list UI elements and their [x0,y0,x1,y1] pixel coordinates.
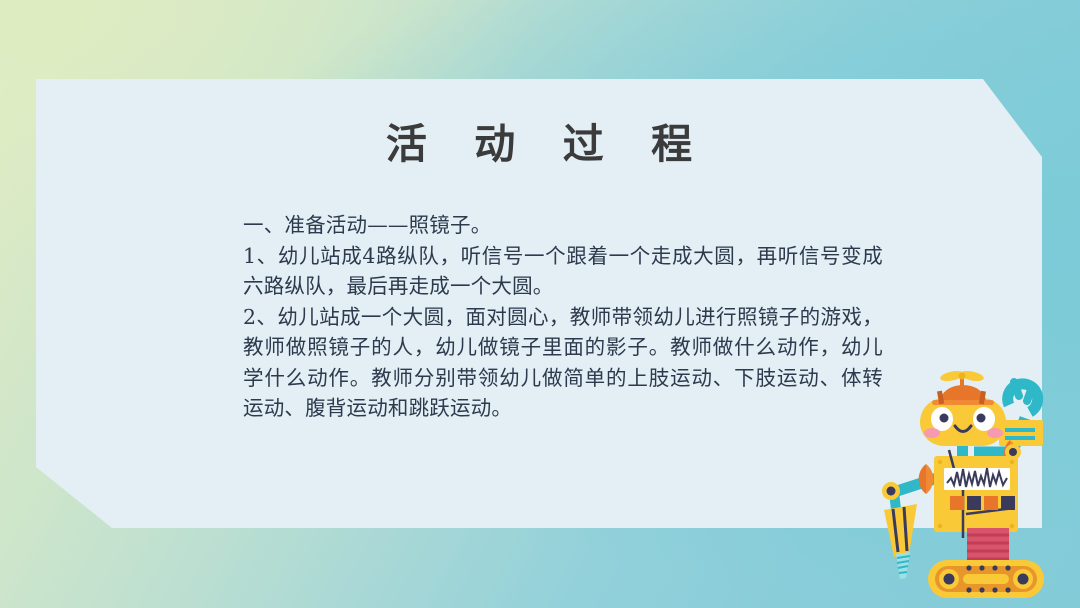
track-base [928,560,1044,598]
drill-arm-icon [882,464,937,579]
robot-torso [934,450,1018,538]
paragraph-step-2: 2、幼儿站成一个大圆，面对圆心，教师带领幼儿进行照镜子的游戏，教师做照镜子的人，… [243,302,883,424]
body-text-block: 一、准备活动——照镜子。 1、幼儿站成4路纵队，听信号一个跟着一个走成大圆，再听… [243,210,883,424]
robot-illustration [862,368,1080,608]
paragraph-step-1: 1、幼儿站成4路纵队，听信号一个跟着一个走成大圆，再听信号变成六路纵队，最后再走… [243,241,883,302]
page-title: 活 动 过 程 [36,110,1042,170]
propeller-hat-icon [932,369,994,405]
paragraph-intro: 一、准备活动——照镜子。 [243,210,883,241]
slide-canvas: 活 动 过 程 一、准备活动——照镜子。 1、幼儿站成4路纵队，听信号一个跟着一… [0,0,1080,608]
robot-head [920,398,1006,446]
